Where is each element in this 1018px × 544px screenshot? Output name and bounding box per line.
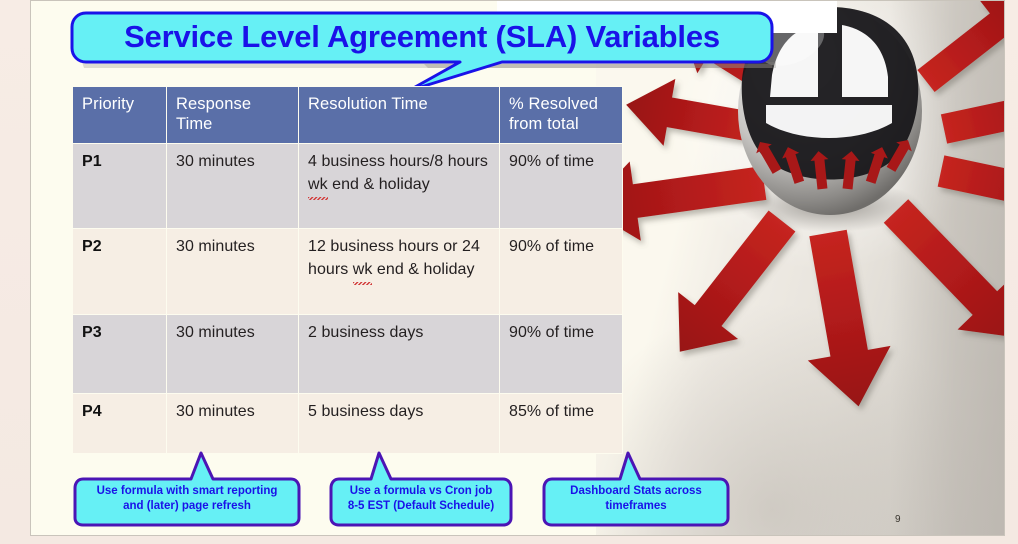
table-header: Priority Response Time Resolution Time %…: [73, 87, 623, 144]
resolution-post: end & holiday: [328, 176, 430, 193]
title-callout: Service Level Agreement (SLA) Variables: [72, 10, 784, 92]
callout-formula-vs-cron: Use a formula vs Cron job 8-5 EST (Defau…: [329, 467, 513, 527]
resolution-post: end & holiday: [372, 261, 474, 278]
table-row: P3 30 minutes 2 business days 90% of tim…: [73, 315, 623, 394]
arrow-upper-right: [908, 1, 1005, 105]
cell-resolution-time: 2 business days: [299, 315, 500, 394]
cell-priority: P1: [73, 144, 167, 229]
cell-resolution-time: 12 business hours or 24 hours wk end & h…: [299, 229, 500, 315]
column-header-response-time: Response Time: [167, 87, 299, 144]
misspelled-word: wk: [353, 259, 373, 282]
callout-line-2: 8-5 EST (Default Schedule): [329, 499, 513, 514]
cell-percent-resolved: 85% of time: [500, 394, 623, 454]
table-row: P4 30 minutes 5 business days 85% of tim…: [73, 394, 623, 454]
slide-canvas: Service Level Agreement (SLA) Variables …: [30, 0, 1005, 536]
arrow-right-lower: [938, 155, 1005, 211]
callout-line-2: and (later) page refresh: [73, 499, 301, 514]
cell-percent-resolved: 90% of time: [500, 315, 623, 394]
arrow-right-upper: [941, 90, 1005, 143]
callout-text: Use formula with smart reporting and (la…: [73, 484, 301, 514]
sla-table: Priority Response Time Resolution Time %…: [72, 86, 623, 454]
cell-priority: P4: [73, 394, 167, 454]
callout-text: Dashboard Stats across timeframes: [542, 484, 730, 514]
cell-priority: P3: [73, 315, 167, 394]
cell-resolution-time: 5 business days: [299, 394, 500, 454]
cell-response-time: 30 minutes: [167, 394, 299, 454]
cell-response-time: 30 minutes: [167, 229, 299, 315]
cell-response-time: 30 minutes: [167, 315, 299, 394]
slide-number: 9: [895, 514, 901, 525]
callout-line-1: Dashboard Stats across: [542, 484, 730, 499]
resolution-pre: 4 business hours/8 hours: [308, 153, 488, 170]
callout-formula-smart-reporting: Use formula with smart reporting and (la…: [73, 467, 301, 527]
cell-percent-resolved: 90% of time: [500, 229, 623, 315]
cell-resolution-time: 4 business hours/8 hours wk end & holida…: [299, 144, 500, 229]
callout-line-1: Use formula with smart reporting: [73, 484, 301, 499]
cell-priority: P2: [73, 229, 167, 315]
table-row: P1 30 minutes 4 business hours/8 hours w…: [73, 144, 623, 229]
misspelled-word: wk: [308, 174, 328, 197]
arrow-bottom: [787, 226, 900, 414]
column-header-resolution-time: Resolution Time: [299, 87, 500, 144]
callout-text: Use a formula vs Cron job 8-5 EST (Defau…: [329, 484, 513, 514]
table-body: P1 30 minutes 4 business hours/8 hours w…: [73, 144, 623, 454]
callout-line-1: Use a formula vs Cron job: [329, 484, 513, 499]
column-header-priority: Priority: [73, 87, 167, 144]
callout-dashboard-stats: Dashboard Stats across timeframes: [542, 467, 730, 527]
cell-percent-resolved: 90% of time: [500, 144, 623, 229]
table-header-row: Priority Response Time Resolution Time %…: [73, 87, 623, 144]
page-title: Service Level Agreement (SLA) Variables: [72, 10, 772, 64]
slide-root: Service Level Agreement (SLA) Variables …: [0, 0, 1018, 544]
table-row: P2 30 minutes 12 business hours or 24 ho…: [73, 229, 623, 315]
cell-response-time: 30 minutes: [167, 144, 299, 229]
callout-line-2: timeframes: [542, 499, 730, 514]
column-header-percent-resolved: % Resolved from total: [500, 87, 623, 144]
